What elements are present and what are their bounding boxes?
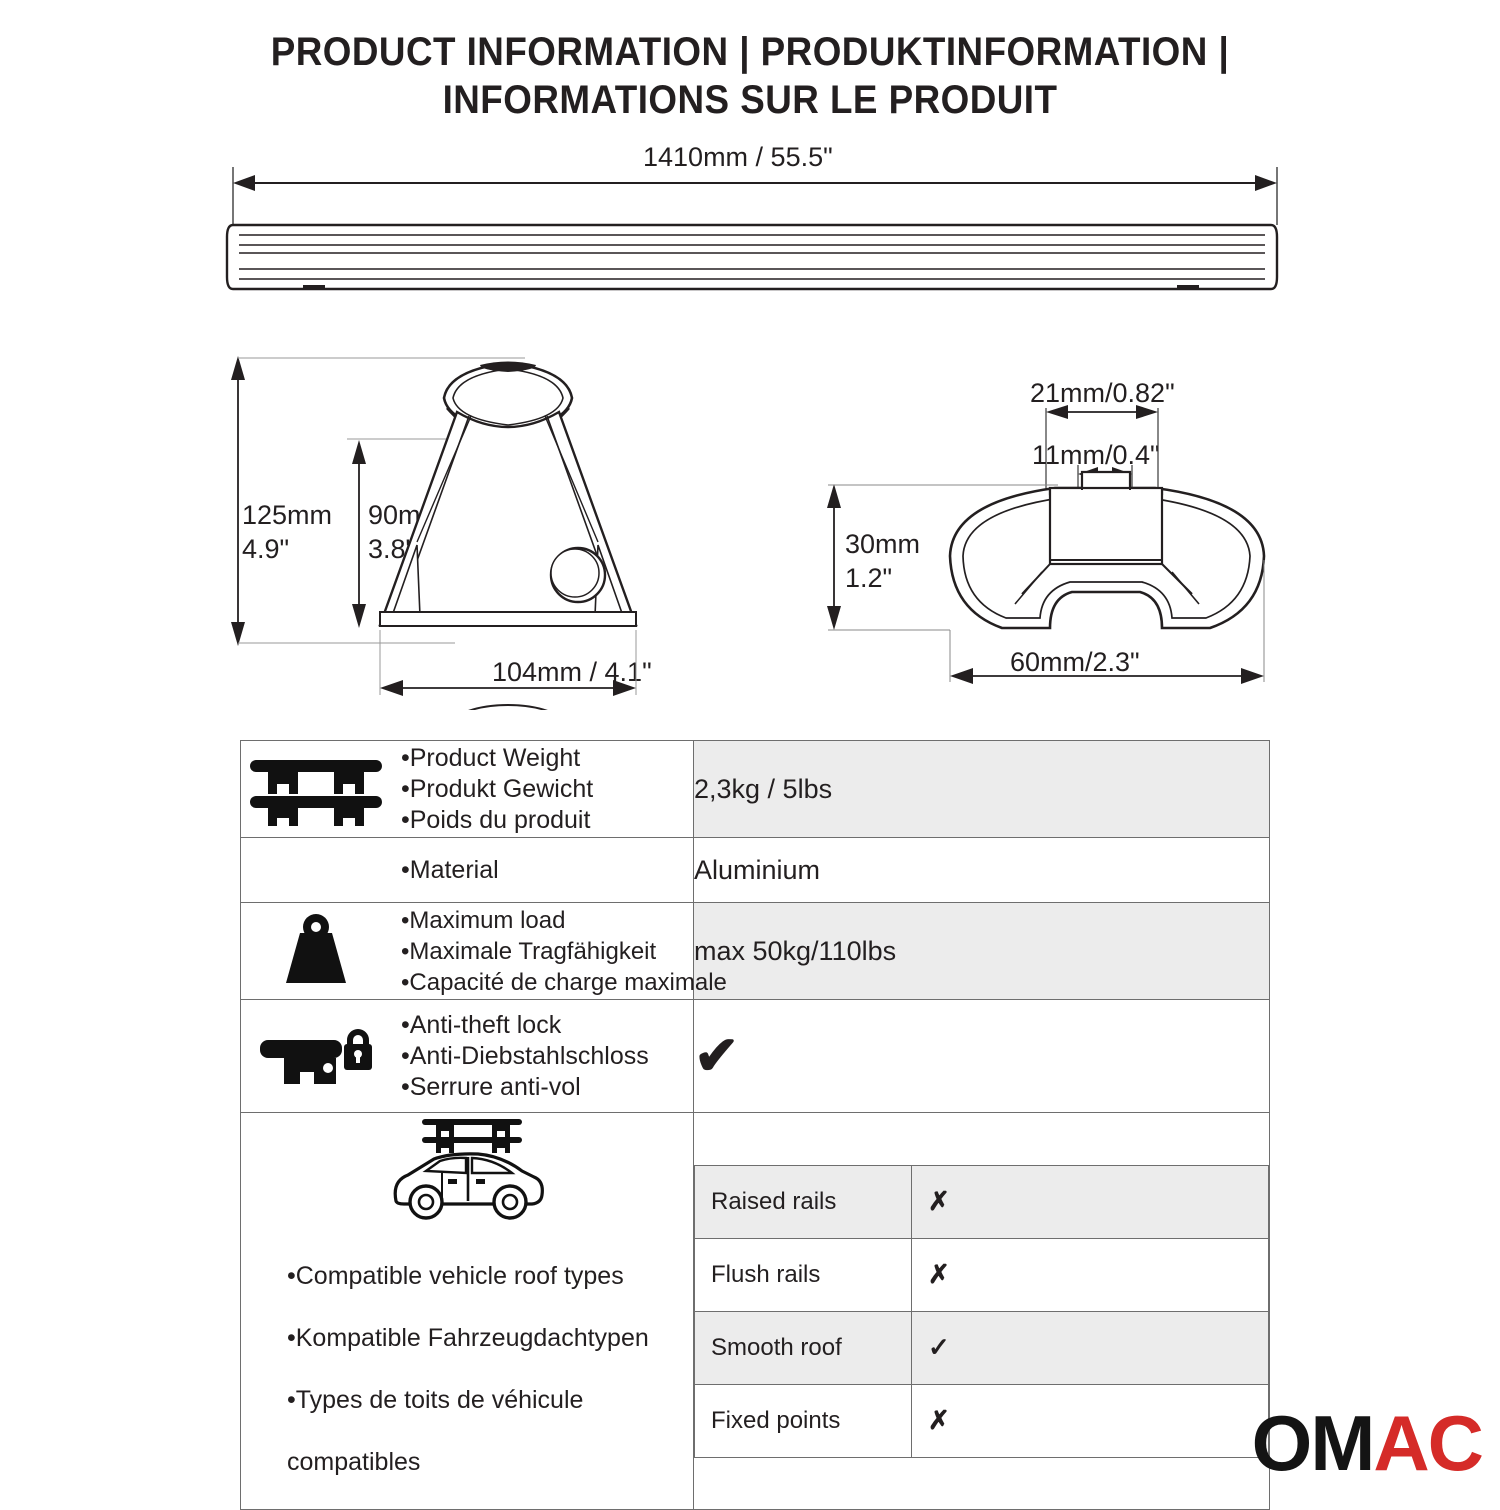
roof-type-mark: ✗ <box>912 1384 1269 1457</box>
product-spec-table: •Product Weight •Produkt Gewicht •Poids … <box>240 740 1270 1510</box>
spec-value-cell: ✔ <box>694 1000 1270 1113</box>
omac-logo: OMAC <box>1252 1404 1482 1482</box>
label-line: •Compatible vehicle roof types <box>287 1261 693 1292</box>
table-row: •Anti-theft lock •Anti-Diebstahlschloss … <box>241 1000 1270 1113</box>
label-line: •Kompatible Fahrzeugdachtypen <box>287 1323 693 1354</box>
label-line: •Material <box>401 855 499 886</box>
spec-label-text: •Anti-theft lock •Anti-Diebstahlschloss … <box>401 1010 649 1103</box>
spec-label-cell: •Product Weight •Produkt Gewicht •Poids … <box>241 741 694 838</box>
roof-type-row: Smooth roof ✓ <box>695 1311 1269 1384</box>
roof-types-label-cell: •Compatible vehicle roof types •Kompatib… <box>241 1113 694 1510</box>
roof-type-name: Raised rails <box>695 1165 912 1238</box>
page-title-line-1: PRODUCT INFORMATION | PRODUKTINFORMATION… <box>60 28 1440 76</box>
table-row: •Material Aluminium <box>241 838 1270 903</box>
roof-type-row: Fixed points ✗ <box>695 1384 1269 1457</box>
spec-value-cell: Aluminium <box>694 838 1270 903</box>
label-line: •Poids du produit <box>401 805 593 836</box>
roof-type-name: Fixed points <box>695 1384 912 1457</box>
label-line: •Anti-theft lock <box>401 1010 649 1041</box>
spec-label-cell: •Maximum load •Maximale Tragfähigkeit •C… <box>241 903 694 1000</box>
logo-text-dark: OM <box>1252 1399 1374 1487</box>
spec-label-cell: •Material <box>241 838 694 903</box>
label-line: •Produkt Gewicht <box>401 774 593 805</box>
bar-top-view-drawing <box>225 165 1295 315</box>
lock-icon <box>241 1020 391 1092</box>
bar-cross-section-drawing <box>810 360 1300 710</box>
spec-label-text: •Product Weight •Produkt Gewicht •Poids … <box>401 743 593 836</box>
spec-label-text: •Material <box>401 855 499 886</box>
spec-value-cell: max 50kg/110lbs <box>694 903 1270 1000</box>
weight-icon <box>241 913 391 989</box>
label-line: compatibles <box>287 1447 693 1478</box>
check-icon: ✔ <box>694 1026 739 1086</box>
label-line: •Maximum load <box>401 905 727 936</box>
crossbars-icon <box>241 752 391 826</box>
roof-types-matrix-cell: Raised rails ✗ Flush rails ✗ Smooth roof… <box>694 1113 1270 1510</box>
label-line: •Anti-Diebstahlschloss <box>401 1041 649 1072</box>
spec-value-cell: 2,3kg / 5lbs <box>694 741 1270 838</box>
roof-type-mark: ✗ <box>912 1238 1269 1311</box>
roof-type-name: Flush rails <box>695 1238 912 1311</box>
roof-type-row: Flush rails ✗ <box>695 1238 1269 1311</box>
roof-type-row: Raised rails ✗ <box>695 1165 1269 1238</box>
page-title-line-2: INFORMATIONS SUR LE PRODUIT <box>60 76 1440 124</box>
label-line: •Serrure anti-vol <box>401 1072 649 1103</box>
table-row: •Maximum load •Maximale Tragfähigkeit •C… <box>241 903 1270 1000</box>
table-row: •Product Weight •Produkt Gewicht •Poids … <box>241 741 1270 838</box>
label-line: •Product Weight <box>401 743 593 774</box>
roof-types-table: Raised rails ✗ Flush rails ✗ Smooth roof… <box>694 1165 1269 1458</box>
foot-side-view-drawing <box>225 350 725 710</box>
roof-types-label-text: •Compatible vehicle roof types •Kompatib… <box>241 1230 693 1509</box>
table-row: •Compatible vehicle roof types •Kompatib… <box>241 1113 1270 1510</box>
label-line: •Types de toits de véhicule <box>287 1385 693 1416</box>
roof-type-mark: ✗ <box>912 1165 1269 1238</box>
label-line: •Capacité de charge maximale <box>401 967 727 998</box>
spec-label-cell: •Anti-theft lock •Anti-Diebstahlschloss … <box>241 1000 694 1113</box>
label-line: •Maximale Tragfähigkeit <box>401 936 727 967</box>
roof-type-mark: ✓ <box>912 1311 1269 1384</box>
page-title: PRODUCT INFORMATION | PRODUKTINFORMATION… <box>0 28 1500 124</box>
car-with-roofbars-icon <box>241 1113 693 1230</box>
spec-label-text: •Maximum load •Maximale Tragfähigkeit •C… <box>401 905 727 998</box>
roof-type-name: Smooth roof <box>695 1311 912 1384</box>
logo-text-red: AC <box>1373 1399 1482 1487</box>
